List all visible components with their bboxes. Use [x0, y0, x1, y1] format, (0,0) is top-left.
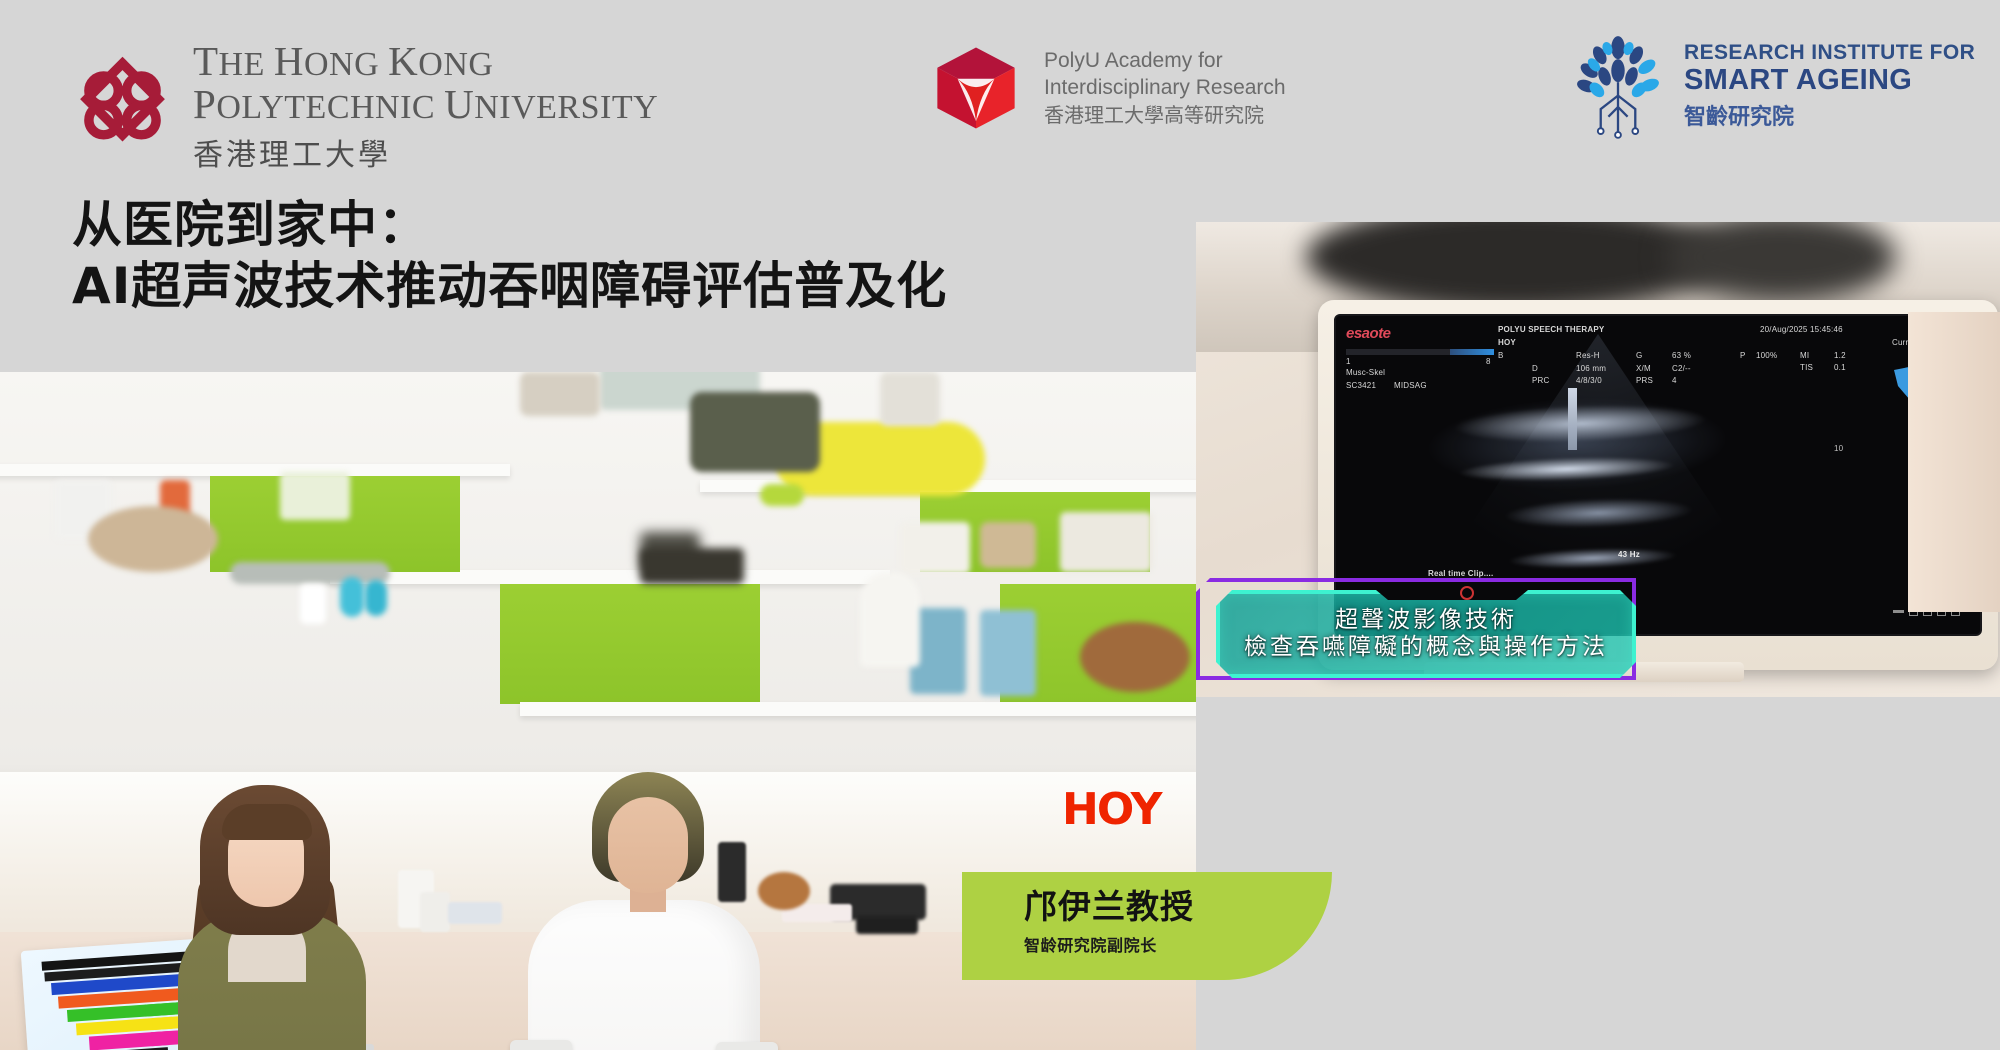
field-prs-value: 4: [1672, 376, 1677, 385]
plane-label: MIDSAG: [1394, 381, 1427, 390]
prop-box: [280, 472, 350, 520]
polyu-name-chinese: 香港理工大學: [193, 130, 658, 174]
green-panel-center: [500, 584, 760, 704]
prop-right-2: [980, 522, 1036, 568]
speaker-name: 邝伊兰教授: [1024, 888, 1332, 926]
prop-camera-mount: [640, 548, 744, 584]
prop-tablet-2: [980, 610, 1036, 696]
subtitle-caption: 超聲波影像技術 檢查吞嚥障礙的概念與操作方法: [1196, 578, 1636, 688]
caption-teal-frame: 超聲波影像技術 檢查吞嚥障礙的概念與操作方法: [1216, 590, 1636, 678]
presenter-left-fringe: [222, 804, 312, 840]
prop-dark-cushion: [690, 392, 820, 472]
prop-mannequin-head: [860, 572, 920, 667]
polyu-knot-icon: [70, 55, 175, 160]
risa-line2: SMART AGEING: [1684, 65, 1975, 97]
frame-rate-label: 43 Hz: [1618, 550, 1640, 559]
machine-side-body: [1908, 312, 2000, 612]
field-prc-label: PRC: [1532, 376, 1550, 385]
hoy-broadcaster-logo: HOY: [1062, 784, 1161, 835]
prop-tray: [448, 902, 502, 924]
gain-bar: [1346, 349, 1494, 355]
depth-marker-label: 10: [1834, 444, 1843, 453]
academy-chinese: 香港理工大學高等研究院: [1044, 102, 1286, 128]
tis-value: 0.1: [1834, 363, 1846, 372]
field-resh-label: Res-H: [1576, 351, 1600, 360]
title-line-1: 从医院到家中：: [72, 195, 947, 256]
prop-green-tag: [760, 484, 804, 506]
timestamp-label: 20/Aug/2025 15:45:46: [1760, 325, 1843, 334]
prop-roller: [230, 562, 390, 584]
chair-right-arm: [510, 1040, 572, 1050]
shelf-mid: [330, 570, 890, 584]
polyu-name-line1: THE HONG KONG: [193, 40, 658, 83]
header-logo-bar: THE HONG KONG POLYTECHNIC UNIVERSITY 香港理…: [0, 0, 2000, 180]
institution-label: POLYU SPEECH THERAPY: [1498, 325, 1604, 334]
polyu-name-line2: POLYTECHNIC UNIVERSITY: [193, 83, 658, 126]
depth-scale-wedge: [1568, 388, 1577, 450]
presenter-right-face: [608, 797, 688, 893]
presenter-right-shirt: [528, 900, 760, 1050]
field-d-label: D: [1532, 364, 1538, 373]
prop-wood-disc: [1080, 622, 1190, 692]
field-g-label: G: [1636, 351, 1642, 360]
cube-icon: [930, 42, 1022, 134]
toolbar-dash-icon[interactable]: [1893, 610, 1904, 613]
page-title: 从医院到家中： AI超声波技术推动吞咽障碍评估普及化: [72, 195, 947, 317]
speaker-role: 智龄研究院副院长: [1024, 932, 1332, 956]
field-g-value: 63 %: [1672, 351, 1691, 360]
prop-shelf-item: [520, 372, 600, 416]
risa-logo: RESEARCH INSTITUTE FOR SMART AGEING 智齡研究…: [1570, 32, 1975, 140]
prop-device-base: [856, 916, 918, 934]
prop-stand: [718, 842, 746, 902]
power-label: P: [1740, 351, 1746, 360]
prop-right-1: [900, 522, 970, 574]
tree-network-icon: [1570, 32, 1666, 140]
field-prc-value: 4/8/3/0: [1576, 376, 1602, 385]
prop-bowl: [88, 506, 218, 572]
shelf-upper-left: [0, 464, 510, 476]
power-value: 100%: [1756, 351, 1777, 360]
mi-label: MI: [1800, 351, 1809, 360]
shelf-lower: [520, 702, 1210, 716]
clip-label: Real time Clip....: [1428, 569, 1493, 578]
probe-label: SC3421: [1346, 381, 1376, 390]
gain-max-label: 8: [1486, 357, 1491, 366]
prop-bottle-2: [420, 892, 450, 932]
prop-white-item: [300, 584, 326, 624]
caption-line-2: 檢查吞嚥障礙的概念與操作方法: [1244, 634, 1608, 661]
risa-line1: RESEARCH INSTITUTE FOR: [1684, 41, 1975, 65]
polyu-academy-logo: PolyU Academy for Interdisciplinary Rese…: [930, 42, 1286, 134]
tis-label: TIS: [1800, 363, 1813, 372]
gain-min-label: 1: [1346, 357, 1351, 366]
preset-label: Musc-Skel: [1346, 368, 1385, 377]
title-line-2: AI超声波技术推动吞咽障碍评估普及化: [72, 256, 947, 317]
mode-label: B: [1498, 351, 1504, 360]
field-prs-label: PRS: [1636, 376, 1653, 385]
prop-blue-1: [340, 577, 364, 617]
academy-line2: Interdisciplinary Research: [1044, 75, 1286, 101]
caption-line-1: 超聲波影像技術: [1335, 607, 1517, 634]
field-resh-value: 106 mm: [1576, 364, 1606, 373]
prop-corner: [880, 372, 940, 426]
channel-label: HOY: [1498, 338, 1516, 347]
academy-line1: PolyU Academy for: [1044, 48, 1286, 74]
mi-value: 1.2: [1834, 351, 1846, 360]
esaote-logo: esaote: [1346, 325, 1391, 342]
field-xm-label: X/M: [1636, 364, 1651, 373]
speaker-nameplate: 邝伊兰教授 智龄研究院副院长: [962, 872, 1332, 980]
field-xm-value: C2/--: [1672, 364, 1691, 373]
prop-wood-egg: [758, 872, 810, 910]
risa-chinese: 智齡研究院: [1684, 99, 1975, 131]
prop-right-3: [1060, 512, 1152, 572]
prop-blue-2: [365, 580, 387, 616]
polyu-logo: THE HONG KONG POLYTECHNIC UNIVERSITY 香港理…: [70, 40, 658, 174]
chair-right-arm-2: [716, 1042, 778, 1050]
